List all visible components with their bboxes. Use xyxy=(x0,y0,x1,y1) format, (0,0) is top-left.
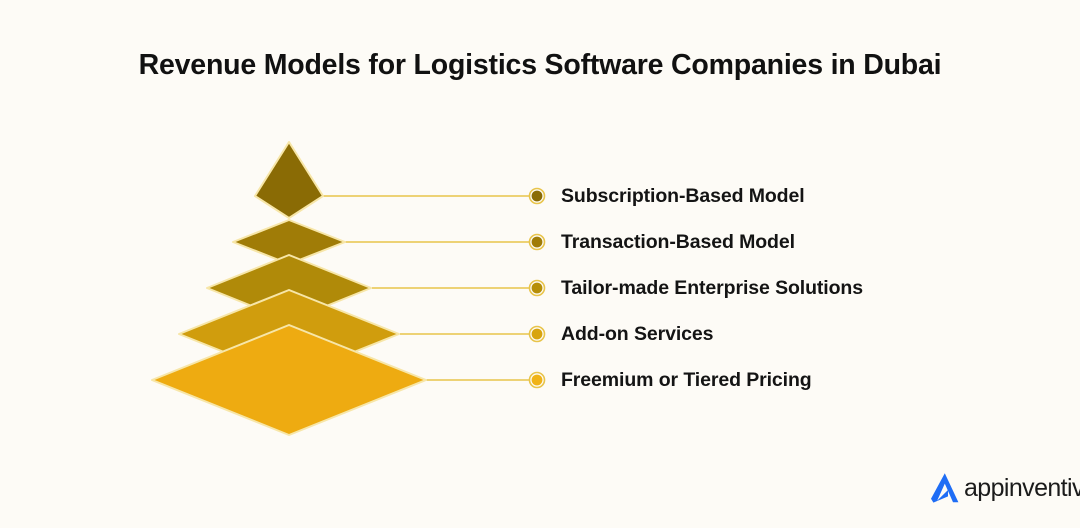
legend-item-1[interactable]: Subscription-Based Model xyxy=(561,183,805,209)
legend-item-label: Tailor-made Enterprise Solutions xyxy=(561,277,863,300)
legend-item-4[interactable]: Add-on Services xyxy=(561,321,713,347)
legend-list: Subscription-Based ModelTransaction-Base… xyxy=(0,0,1080,528)
infographic-canvas: Revenue Models for Logistics Software Co… xyxy=(0,0,1080,528)
legend-item-5[interactable]: Freemium or Tiered Pricing xyxy=(561,367,812,393)
brand-wordmark: appinventiv xyxy=(964,476,1080,501)
appinventiv-a-icon xyxy=(928,470,962,506)
legend-item-3[interactable]: Tailor-made Enterprise Solutions xyxy=(561,275,863,301)
brand-logo: appinventiv xyxy=(928,470,1080,506)
legend-item-label: Subscription-Based Model xyxy=(561,185,805,208)
legend-item-2[interactable]: Transaction-Based Model xyxy=(561,229,795,255)
legend-item-label: Freemium or Tiered Pricing xyxy=(561,369,812,392)
legend-item-label: Transaction-Based Model xyxy=(561,231,795,254)
legend-item-label: Add-on Services xyxy=(561,323,713,346)
